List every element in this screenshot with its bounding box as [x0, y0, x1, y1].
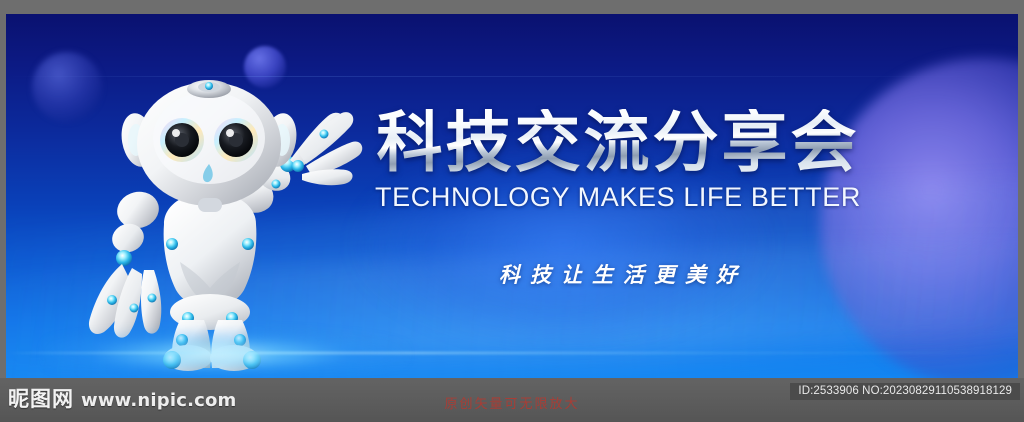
image-id-badge: ID:2533906 NO:20230829110538918129: [790, 383, 1020, 400]
robot-mascot-icon: [76, 72, 366, 372]
poster-text-block: 科技交流分享会 TECHNOLOGY MAKES LIFE BETTER 科技让…: [358, 109, 878, 289]
floor-light-streak: [6, 352, 1018, 354]
poster-tagline: 科技让生活更美好: [358, 259, 878, 289]
nipic-logo[interactable]: 昵图网 www.nipic.com: [8, 383, 237, 413]
nipic-logo-cn: 昵图网: [8, 383, 74, 413]
poster-artwork: 科技交流分享会 TECHNOLOGY MAKES LIFE BETTER 科技让…: [6, 14, 1018, 378]
poster-subtitle: TECHNOLOGY MAKES LIFE BETTER: [358, 182, 878, 213]
page-title: 科技交流分享会: [358, 109, 878, 176]
nipic-logo-url: www.nipic.com: [81, 390, 237, 411]
screenshot-stage: 科技交流分享会 TECHNOLOGY MAKES LIFE BETTER 科技让…: [0, 0, 1024, 422]
light-sheen: [6, 167, 1018, 378]
floor-glow: [46, 330, 406, 370]
horizon-line: [6, 76, 1018, 77]
blue-sphere-icon: [244, 46, 286, 88]
blue-sphere-icon: [32, 52, 102, 122]
violet-planet-icon: [820, 58, 1018, 378]
light-sheen: [6, 233, 1018, 370]
center-glow: [350, 138, 775, 349]
